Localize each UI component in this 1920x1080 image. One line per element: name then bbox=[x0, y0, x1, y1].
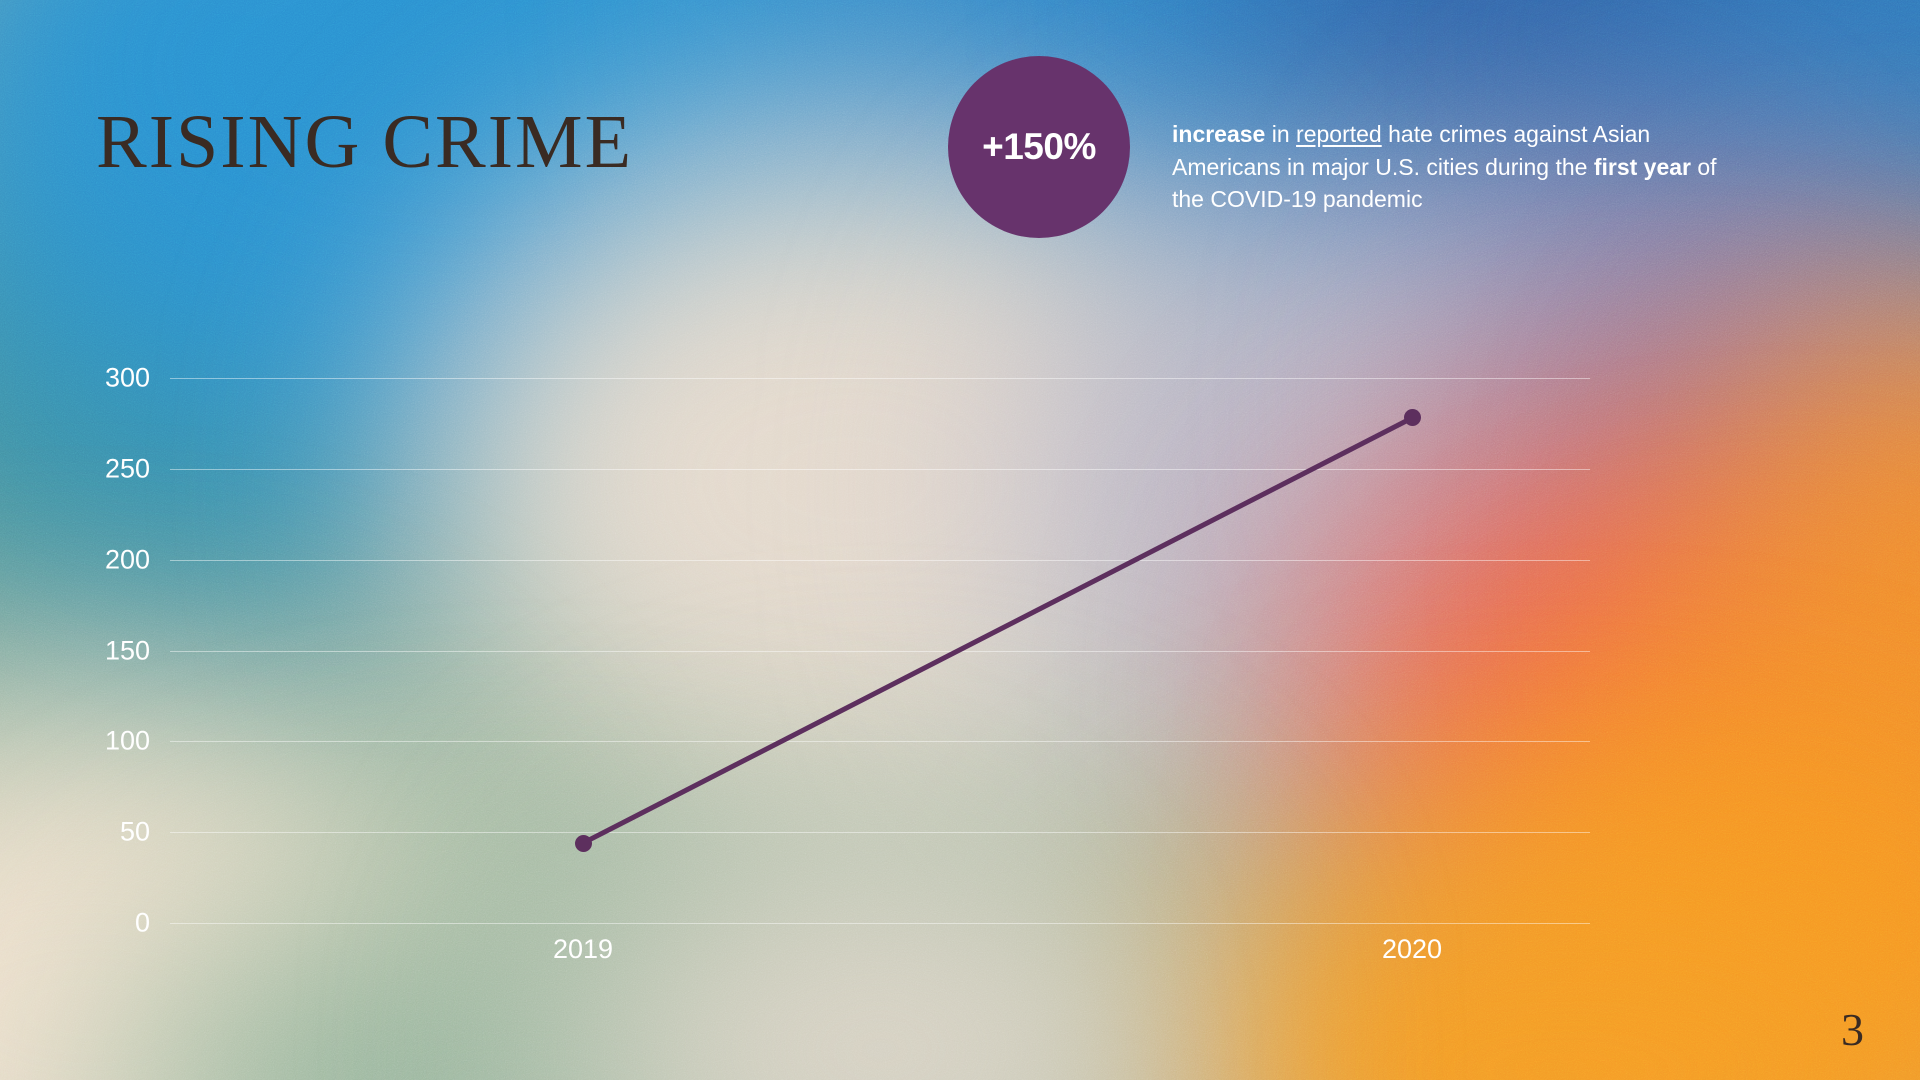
gridline bbox=[170, 378, 1590, 379]
y-axis-label: 200 bbox=[30, 544, 150, 575]
gridline bbox=[170, 923, 1590, 924]
gridline bbox=[170, 832, 1590, 833]
y-axis-label: 300 bbox=[30, 363, 150, 394]
x-axis-label: 2019 bbox=[553, 934, 613, 965]
data-point bbox=[575, 835, 592, 852]
gridline bbox=[170, 651, 1590, 652]
y-axis-label: 0 bbox=[30, 908, 150, 939]
gridline bbox=[170, 469, 1590, 470]
x-axis-label: 2020 bbox=[1382, 934, 1442, 965]
y-axis-label: 50 bbox=[30, 817, 150, 848]
chart-series-line bbox=[0, 0, 1920, 1080]
y-axis-label: 150 bbox=[30, 635, 150, 666]
page-number: 3 bbox=[1841, 1003, 1864, 1056]
gridline bbox=[170, 560, 1590, 561]
gridline bbox=[170, 741, 1590, 742]
line-chart: 050100150200250300 20192020 bbox=[0, 0, 1920, 1080]
data-point bbox=[1404, 409, 1421, 426]
y-axis-label: 250 bbox=[30, 453, 150, 484]
y-axis-label: 100 bbox=[30, 726, 150, 757]
slide: RISING CRIME +150% increase in reported … bbox=[0, 0, 1920, 1080]
